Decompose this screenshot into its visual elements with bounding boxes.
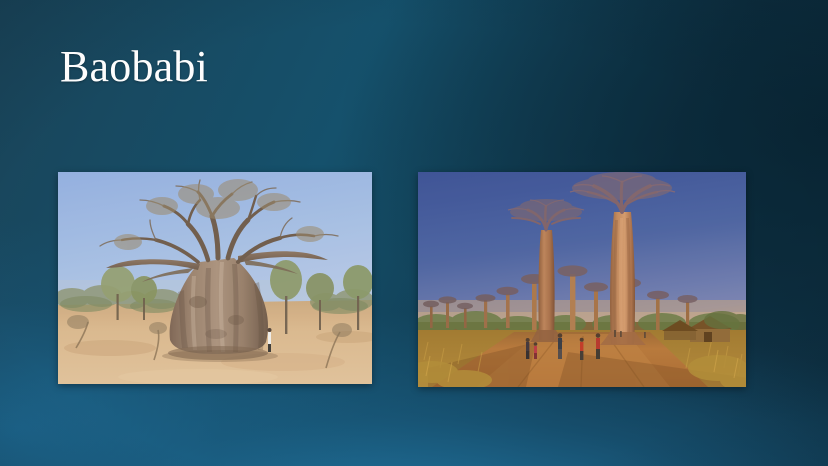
slide-title: Baobabi xyxy=(60,42,208,91)
image-baobab-avenue[interactable] xyxy=(418,172,746,387)
baobab-solitary-illustration xyxy=(58,172,372,384)
image-baobab-solitary[interactable] xyxy=(58,172,372,384)
baobab-avenue-illustration xyxy=(418,172,746,387)
presentation-slide: Baobabi xyxy=(0,0,828,466)
